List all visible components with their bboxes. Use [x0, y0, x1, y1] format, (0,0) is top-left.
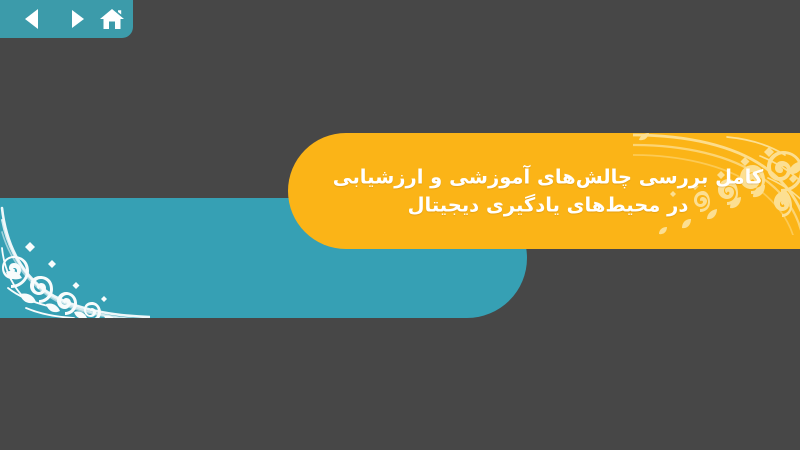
slide-title: کامل بررسی چالش‌های آموزشی و ارزشیابی در… — [288, 163, 800, 218]
arabesque-ornament-icon — [0, 198, 150, 318]
next-button[interactable] — [60, 2, 96, 36]
title-line-2: در محیط‌های یادگیری دیجیتال — [306, 191, 790, 219]
home-icon — [99, 7, 125, 31]
triangle-right-icon — [70, 8, 86, 30]
title-line-1: کامل بررسی چالش‌های آموزشی و ارزشیابی — [306, 163, 790, 191]
home-button[interactable] — [94, 2, 130, 36]
slide-canvas: کامل بررسی چالش‌های آموزشی و ارزشیابی در… — [0, 0, 800, 450]
navigation-bar — [0, 0, 133, 38]
title-banner: کامل بررسی چالش‌های آموزشی و ارزشیابی در… — [288, 133, 800, 249]
previous-button[interactable] — [14, 2, 50, 36]
triangle-left-icon — [22, 8, 42, 30]
